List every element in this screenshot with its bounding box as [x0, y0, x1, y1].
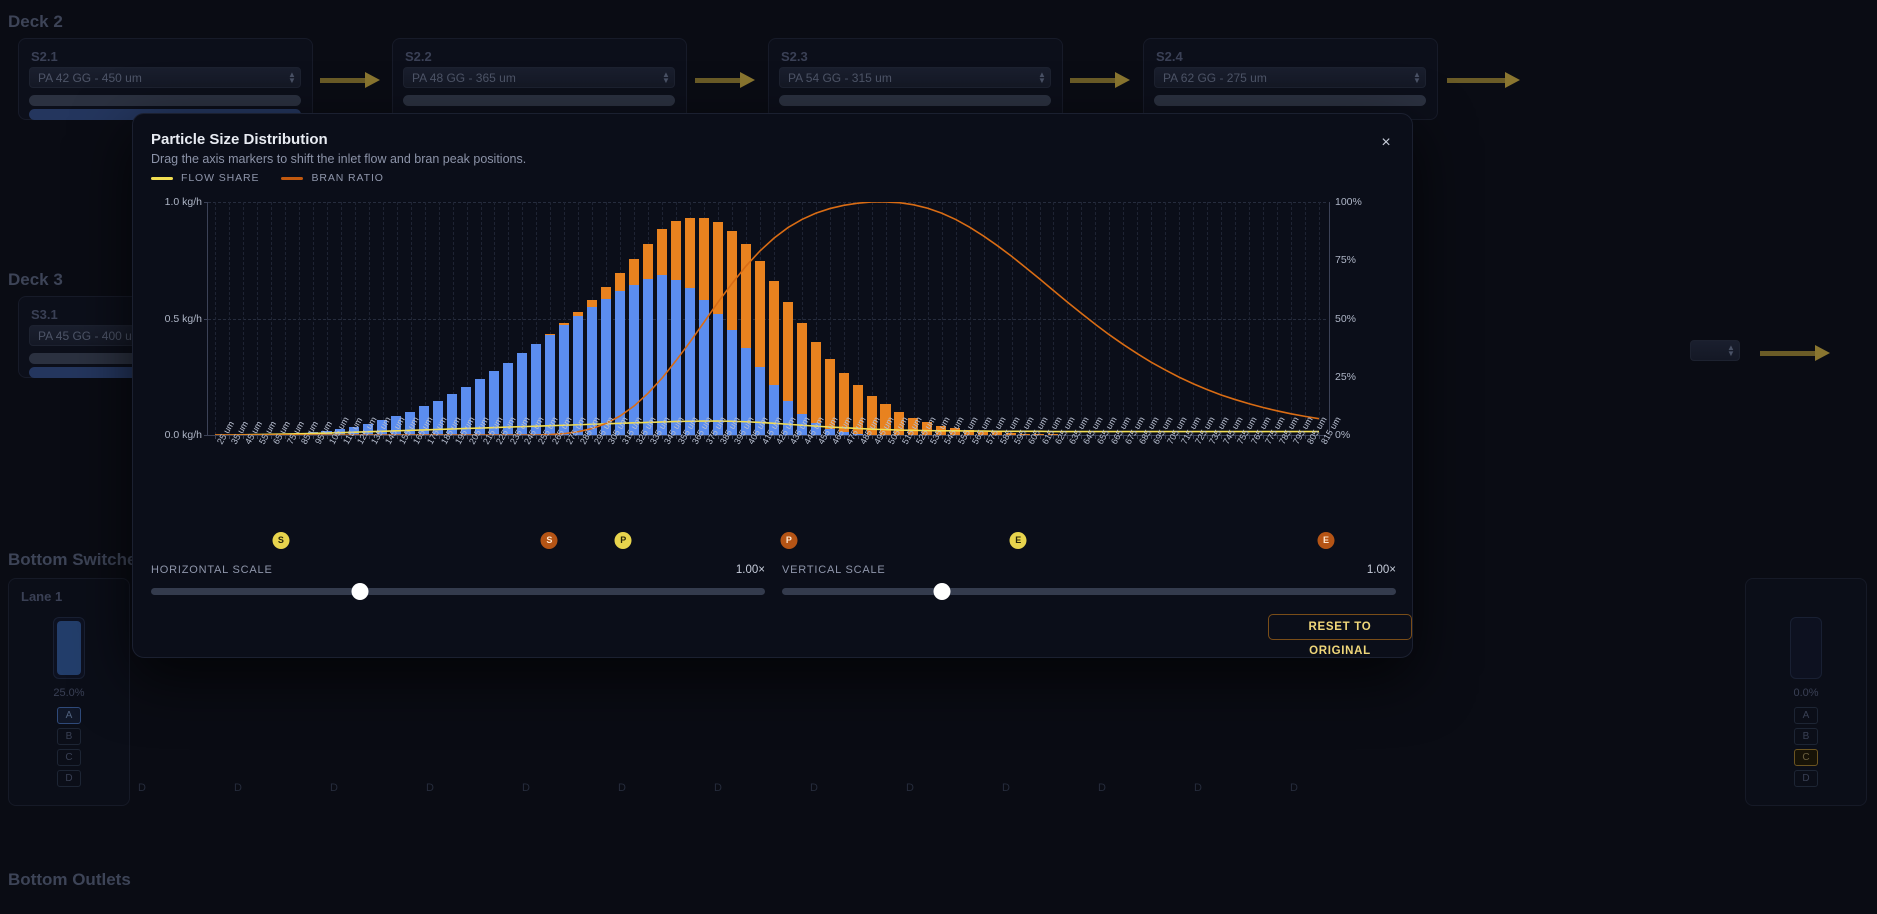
stepper-icon[interactable]: ▲▼: [662, 72, 670, 85]
section-bar-track: [779, 95, 1051, 106]
axis-marker-flow-start[interactable]: S: [272, 532, 289, 549]
dialog-subtitle: Drag the axis markers to shift the inlet…: [151, 152, 526, 166]
chart-area: 0.0 kg/h0.5 kg/h1.0 kg/h0%25%50%75%100%2…: [151, 196, 1396, 516]
section-bar-track: [1154, 95, 1426, 106]
outlet-letter: D: [522, 782, 530, 794]
outlet-letter: D: [330, 782, 338, 794]
legend-swatch-flow-share: [151, 177, 173, 180]
y-axis-tick-left: 1.0 kg/h: [165, 196, 202, 208]
vertical-scale-label: VERTICAL SCALE: [782, 564, 886, 576]
y-axis-tick-right: 25%: [1335, 371, 1356, 383]
lane-percent-1: 25.0%: [49, 687, 89, 699]
legend-label-flow-share: FLOW SHARE: [181, 172, 259, 184]
outlet-letter: D: [138, 782, 146, 794]
flow-arrow-2: [695, 75, 755, 85]
vertical-scale-control: VERTICAL SCALE 1.00×: [782, 564, 1396, 604]
section-bar-track: [29, 95, 301, 106]
outlet-letter: D: [1002, 782, 1010, 794]
mesh-select-value-s21: PA 42 GG - 450 um: [38, 71, 142, 85]
outlet-letter: D: [810, 782, 818, 794]
bottom-switches-title: Bottom Switches: [8, 550, 146, 570]
stepper-icon[interactable]: ▲▼: [288, 72, 296, 85]
section-label-s21: S2.1: [31, 49, 58, 64]
mesh-select-s22[interactable]: PA 48 GG - 365 um ▲▼: [403, 67, 675, 88]
chart-legend: FLOW SHARE BRAN RATIO: [151, 172, 384, 184]
flow-arrow-3: [1070, 75, 1130, 85]
outlet-letter: D: [1098, 782, 1106, 794]
horizontal-scale-control: HORIZONTAL SCALE 1.00×: [151, 564, 765, 604]
axis-marker-flow-peak[interactable]: P: [615, 532, 632, 549]
section-bar-track: [403, 95, 675, 106]
horizontal-scale-slider[interactable]: [151, 588, 765, 595]
lane-label-1: Lane 1: [21, 589, 62, 604]
bottom-outlets-title: Bottom Outlets: [8, 870, 131, 890]
chart-plot-inner: [208, 202, 1326, 435]
deck-2-title: Deck 2: [8, 12, 63, 32]
axis-marker-bran-end[interactable]: E: [1318, 532, 1335, 549]
lane-button-b[interactable]: B: [1794, 728, 1818, 745]
y-axis-tick-left: 0.0 kg/h: [165, 429, 202, 441]
outlet-letter: D: [234, 782, 242, 794]
outlet-letter: D: [906, 782, 914, 794]
stepper-icon[interactable]: ▲▼: [1413, 72, 1421, 85]
section-panel-s22: S2.2 PA 48 GG - 365 um ▲▼: [392, 38, 687, 120]
outlet-letter: D: [618, 782, 626, 794]
close-icon[interactable]: ×: [1376, 134, 1396, 154]
outlet-letter: D: [714, 782, 722, 794]
lane-button-c[interactable]: C: [1794, 749, 1818, 766]
chart-line-bran-ratio: [215, 202, 1319, 435]
section-label-s24: S2.4: [1156, 49, 1183, 64]
flow-arrow-5: [1760, 348, 1830, 358]
stepper-icon[interactable]: ▲▼: [1727, 345, 1735, 358]
horizontal-scale-label: HORIZONTAL SCALE: [151, 564, 273, 576]
section-label-s22: S2.2: [405, 49, 432, 64]
reset-to-original-button[interactable]: RESET TO ORIGINAL: [1268, 614, 1412, 640]
flow-arrow-4: [1447, 75, 1522, 85]
axis-marker-bran-start[interactable]: S: [541, 532, 558, 549]
legend-item-flow-share: FLOW SHARE: [151, 172, 259, 184]
right-axis-line: [1329, 202, 1330, 435]
lane-panel-right: 0.0% A B C D: [1745, 578, 1867, 806]
outlet-letter: D: [426, 782, 434, 794]
lane-percent-right: 0.0%: [1786, 687, 1826, 699]
horizontal-scale-value: 1.00×: [736, 564, 765, 576]
legend-swatch-bran-ratio: [281, 177, 303, 180]
y-axis-tick-left: 0.5 kg/h: [165, 313, 202, 325]
chart-plot[interactable]: 0.0 kg/h0.5 kg/h1.0 kg/h0%25%50%75%100%2…: [207, 202, 1326, 436]
legend-label-bran-ratio: BRAN RATIO: [311, 172, 383, 184]
lane-button-d[interactable]: D: [1794, 770, 1818, 787]
flow-arrow-1: [320, 75, 380, 85]
outlet-letter: D: [1290, 782, 1298, 794]
lane-gauge-right: [1790, 617, 1822, 679]
axis-marker-flow-end[interactable]: E: [1010, 532, 1027, 549]
section-panel-s21: S2.1 PA 42 GG - 450 um ▲▼: [18, 38, 313, 120]
mesh-select-s21[interactable]: PA 42 GG - 450 um ▲▼: [29, 67, 301, 88]
lane-button-d[interactable]: D: [57, 770, 81, 787]
mesh-select-s24[interactable]: PA 62 GG - 275 um ▲▼: [1154, 67, 1426, 88]
lane-button-c[interactable]: C: [57, 749, 81, 766]
section-panel-s24: S2.4 PA 62 GG - 275 um ▲▼: [1143, 38, 1438, 120]
y-axis-tick-right: 75%: [1335, 254, 1356, 266]
mesh-select-value-s31: PA 45 GG - 400 um: [38, 329, 142, 343]
lane-gauge-1: [53, 617, 85, 679]
section-label-s23: S2.3: [781, 49, 808, 64]
axis-marker-bran-peak[interactable]: P: [780, 532, 797, 549]
y-axis-tick-right: 50%: [1335, 313, 1356, 325]
stepper-icon[interactable]: ▲▼: [1038, 72, 1046, 85]
mesh-select-right[interactable]: ▲▼: [1690, 340, 1740, 361]
deck-3-title: Deck 3: [8, 270, 63, 290]
mesh-select-value-s22: PA 48 GG - 365 um: [412, 71, 516, 85]
dialog-title: Particle Size Distribution: [151, 131, 328, 148]
particle-size-distribution-dialog: Particle Size Distribution Drag the axis…: [132, 113, 1413, 658]
vertical-scale-slider[interactable]: [782, 588, 1396, 595]
axis-marker-row[interactable]: SSPPEE: [151, 532, 1396, 560]
horizontal-scale-knob[interactable]: [351, 583, 368, 600]
lane-button-b[interactable]: B: [57, 728, 81, 745]
lane-panel-1: Lane 1 25.0% A B C D: [8, 578, 130, 806]
section-panel-s23: S2.3 PA 54 GG - 315 um ▲▼: [768, 38, 1063, 120]
legend-item-bran-ratio: BRAN RATIO: [281, 172, 383, 184]
y-axis-tick-right: 100%: [1335, 196, 1362, 208]
lane-button-a[interactable]: A: [1794, 707, 1818, 724]
chart-line-layer: [208, 202, 1326, 435]
vertical-scale-knob[interactable]: [933, 583, 950, 600]
mesh-select-value-s23: PA 54 GG - 315 um: [788, 71, 892, 85]
y-axis-tick-right: 0%: [1335, 429, 1350, 441]
lane-button-a[interactable]: A: [57, 707, 81, 724]
vertical-scale-value: 1.00×: [1367, 564, 1396, 576]
mesh-select-value-s24: PA 62 GG - 275 um: [1163, 71, 1267, 85]
outlet-letter: D: [1194, 782, 1202, 794]
section-label-s31: S3.1: [31, 307, 58, 322]
mesh-select-s23[interactable]: PA 54 GG - 315 um ▲▼: [779, 67, 1051, 88]
